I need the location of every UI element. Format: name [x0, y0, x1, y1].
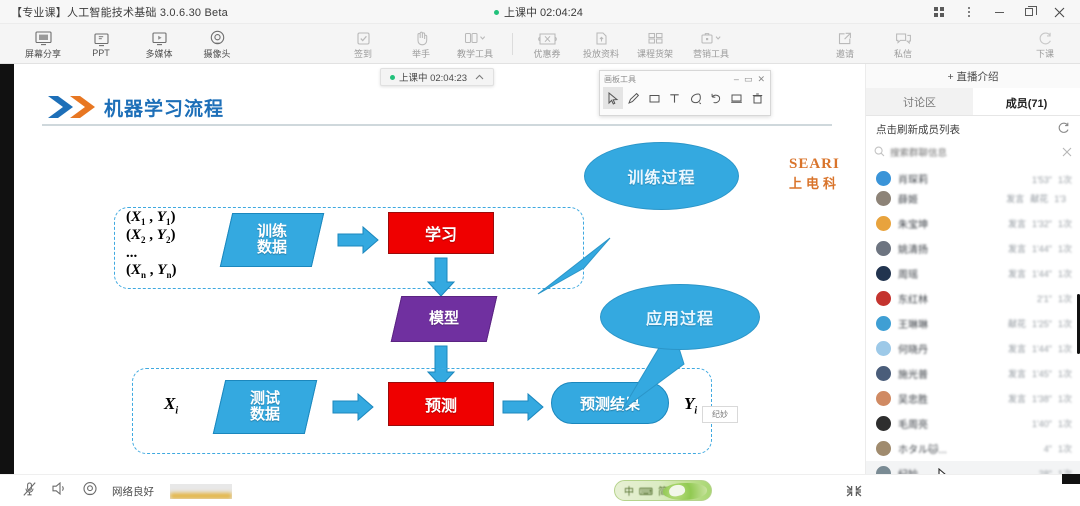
slide-canvas: 机器学习流程 SEARI 上电科 (X1 , Y1) (X2 , Y2) ...…: [14, 72, 865, 460]
member-name: 施光普: [898, 366, 928, 381]
panel-tabs: 讨论区 成员(71): [866, 88, 1080, 116]
live-intro-button[interactable]: + 直播介绍: [866, 64, 1080, 88]
node-label-line2: 数据: [257, 239, 287, 256]
avatar: [876, 241, 891, 256]
arrow-right-icon: [331, 392, 375, 427]
annotation-name-tag: 纪妙: [702, 406, 738, 423]
member-duration: 1'25": [1032, 319, 1052, 329]
tool-multimedia[interactable]: 多媒体: [130, 26, 188, 62]
title-underline: [42, 124, 832, 126]
node-label: 预测: [425, 392, 457, 416]
select-cursor-icon[interactable]: [603, 87, 623, 109]
tool-screen-share[interactable]: 屏幕分享: [14, 26, 72, 62]
node-label: 学习: [425, 221, 457, 245]
training-samples-list: (X1 , Y1) (X2 , Y2) ... (Xn , Yn): [126, 209, 176, 280]
tool-label: 签到: [354, 47, 372, 60]
tool-label: 教学工具: [457, 47, 493, 60]
sample-row: ...: [126, 245, 176, 262]
right-panel: + 直播介绍 讨论区 成员(71) 点击刷新成员列表 肖琛莉1'53"1次薛姬发…: [865, 64, 1080, 506]
tool-label: 课程货架: [637, 47, 673, 60]
avatar: [876, 291, 891, 306]
member-count: 1次: [1058, 342, 1072, 355]
tool-label: 私信: [894, 47, 912, 60]
drawing-maximize-button[interactable]: ▭: [744, 75, 753, 84]
member-meta: 2'1"1次: [1037, 292, 1072, 305]
member-row[interactable]: 施光普发言1'45"1次: [866, 361, 1080, 386]
avatar: [876, 416, 891, 431]
floating-live-pill[interactable]: 上课中 02:04:23: [380, 68, 494, 86]
bubble-label: 应用过程: [646, 305, 714, 329]
member-count: 1次: [1058, 317, 1072, 330]
stage-left-letterbox: [0, 64, 14, 474]
slide-title: 机器学习流程: [104, 94, 224, 121]
mic-muted-icon[interactable]: [22, 481, 37, 502]
avatar: [876, 171, 891, 186]
member-meta: 献花1'25"1次: [1008, 317, 1072, 330]
member-action-tag[interactable]: 献花: [1030, 192, 1048, 205]
media-play-icon: [151, 29, 168, 46]
private-message-icon: [895, 29, 912, 46]
rectangle-icon[interactable]: [644, 87, 664, 109]
member-duration: 1'45": [1032, 369, 1052, 379]
member-count: 1次: [1058, 392, 1072, 405]
member-search-row[interactable]: [874, 142, 1072, 164]
tool-course-shelf[interactable]: 课程货架: [624, 26, 686, 62]
member-meta: 发言1'38"1次: [1008, 392, 1072, 405]
member-name: 吴忠胜: [898, 391, 928, 406]
member-list[interactable]: 肖琛莉1'53"1次薛姬发言献花1'3朱宝坤发言1'32"1次姚清扬发言1'44…: [866, 170, 1080, 476]
drawing-toolbar-window[interactable]: 画板工具 – ▭ ✕: [599, 70, 771, 116]
member-row[interactable]: 姚清扬发言1'44"1次: [866, 236, 1080, 261]
member-row[interactable]: 周瑶发言1'44"1次: [866, 261, 1080, 286]
trash-icon[interactable]: [747, 87, 767, 109]
input-label: Xi: [164, 394, 178, 416]
eraser-icon[interactable]: [686, 87, 706, 109]
tool-label: 举手: [412, 47, 430, 60]
restore-button[interactable]: [1014, 0, 1044, 24]
tool-coupon[interactable]: 优惠券: [518, 26, 576, 62]
avatar: [876, 341, 891, 356]
member-duration: 1'3: [1054, 194, 1066, 204]
avatar: [876, 316, 891, 331]
member-meta: 发言1'44"1次: [1008, 242, 1072, 255]
node-test-data: 测试 数据: [213, 380, 317, 434]
member-meta: 1'40"1次: [1032, 417, 1072, 430]
member-duration: 1'44": [1032, 244, 1052, 254]
arrow-right-icon: [336, 225, 380, 260]
member-row[interactable]: 吴忠胜发言1'38"1次: [866, 386, 1080, 411]
live-class-window: 【专业课】人工智能技术基础 3.0.6.30 Beta 上课中 02:04:24: [0, 0, 1080, 506]
member-duration: 1'32": [1032, 219, 1052, 229]
avatar: [876, 216, 891, 231]
monitor-share-icon: [35, 29, 52, 46]
tab-discussion[interactable]: 讨论区: [866, 88, 973, 115]
chevron-decoration-icon: [46, 94, 104, 125]
drawing-toolbar-title: 画板工具: [604, 74, 636, 85]
window-controls: [924, 0, 1074, 24]
toolbar-divider: [512, 33, 513, 55]
tool-label: 邀请: [836, 47, 854, 60]
member-count: 1次: [1058, 217, 1072, 230]
text-icon[interactable]: [665, 87, 685, 109]
checkin-icon: [356, 29, 371, 46]
bubble-tail-icon: [534, 232, 614, 307]
node-model: 模型: [391, 296, 498, 342]
apps-grid-icon[interactable]: [924, 0, 954, 24]
refresh-members-row[interactable]: 点击刷新成员列表: [866, 116, 1080, 142]
tool-label: 摄像头: [203, 47, 230, 60]
member-name: 周瑶: [898, 266, 918, 281]
member-action-tag[interactable]: 发言: [1006, 192, 1024, 205]
tool-camera[interactable]: 摄像头: [188, 26, 246, 62]
status-bar-thumbnail: [170, 484, 232, 499]
node-label-line1: 测试: [250, 390, 280, 407]
node-label: 模型: [429, 311, 459, 327]
member-meta: 1'53"1次: [1032, 173, 1072, 186]
member-name: 东红林: [898, 291, 928, 306]
member-action-tag[interactable]: 发言: [1008, 217, 1026, 230]
member-action-tag[interactable]: 发言: [1008, 242, 1026, 255]
camera-circle-icon[interactable]: [82, 481, 98, 502]
node-training-data: 训练 数据: [220, 213, 324, 267]
ime-indicator[interactable]: 中 ⌨ 简: [614, 480, 712, 501]
member-action-tag[interactable]: 发言: [1008, 367, 1026, 380]
collapse-fullscreen-icon[interactable]: [845, 484, 863, 498]
member-row[interactable]: ホタル🐱...4"1次: [866, 436, 1080, 461]
member-duration: 1'44": [1032, 344, 1052, 354]
live-status-text: 上课中 02:04:24: [504, 4, 583, 20]
close-icon[interactable]: [1062, 144, 1072, 162]
member-count: 1次: [1058, 417, 1072, 430]
drawing-toolbar-header: 画板工具 – ▭ ✕: [600, 71, 770, 87]
minimize-button[interactable]: [984, 0, 1014, 24]
seari-logo: SEARI 上电科: [789, 156, 865, 192]
member-meta: 发言1'32"1次: [1008, 217, 1072, 230]
upload-doc-icon: [594, 29, 609, 46]
member-name: 王琳琳: [898, 316, 928, 331]
more-vertical-icon[interactable]: [954, 0, 984, 24]
member-duration: 1'44": [1032, 269, 1052, 279]
member-action-tag[interactable]: 献花: [1008, 317, 1026, 330]
tool-upload-doc[interactable]: 投放资料: [570, 26, 632, 62]
member-row[interactable]: 东红林2'1"1次: [866, 286, 1080, 311]
marketing-tools-icon: [699, 29, 723, 46]
drawing-tools-row: [600, 87, 770, 109]
coupon-icon: [538, 29, 557, 46]
bubble-application-process: 应用过程: [600, 284, 760, 350]
member-row[interactable]: 毛周亮1'40"1次: [866, 411, 1080, 436]
member-name: 朱宝坤: [898, 216, 928, 231]
node-label-line1: 训练: [257, 223, 287, 240]
whiteboard-icon[interactable]: [727, 87, 747, 109]
member-count: 1次: [1058, 173, 1072, 186]
tool-private-message[interactable]: 私信: [874, 26, 932, 62]
sample-row: (Xn , Yn): [126, 262, 176, 280]
search-icon: [874, 144, 885, 162]
close-button[interactable]: [1044, 0, 1074, 24]
member-count: 1次: [1058, 367, 1072, 380]
member-row[interactable]: 肖琛莉1'53"1次: [866, 170, 1080, 186]
tool-label: 投放资料: [583, 47, 619, 60]
node-label-line2: 数据: [250, 406, 280, 423]
member-count: 1次: [1058, 267, 1072, 280]
search-input[interactable]: [890, 148, 1057, 159]
avatar: [876, 266, 891, 281]
teaching-tools-icon: [463, 29, 487, 46]
member-meta: 发言1'44"1次: [1008, 342, 1072, 355]
avatar: [876, 366, 891, 381]
camera-icon: [209, 29, 226, 46]
refresh-label: 点击刷新成员列表: [876, 122, 960, 137]
bubble-label: 训练过程: [627, 164, 695, 188]
tool-label: 多媒体: [145, 47, 172, 60]
chevron-up-icon[interactable]: [475, 72, 484, 83]
member-duration: 1'53": [1032, 175, 1052, 185]
end-class-icon: [1038, 29, 1053, 46]
action-toolbar: 屏幕分享 PPT 多媒体: [0, 24, 1080, 64]
tool-teaching-tools[interactable]: 教学工具: [442, 26, 508, 62]
member-meta: 发言1'44"1次: [1008, 267, 1072, 280]
avatar: [876, 391, 891, 406]
bubble-training-process: 训练过程: [584, 142, 739, 210]
drawing-close-button[interactable]: ✕: [757, 75, 765, 84]
member-name: 毛周亮: [898, 416, 928, 431]
member-meta: 发言1'45"1次: [1008, 367, 1072, 380]
member-meta: 4"1次: [1044, 442, 1072, 455]
sample-row: (X2 , Y2): [126, 227, 176, 245]
arrow-right-icon: [501, 392, 545, 427]
course-shelf-icon: [647, 29, 664, 46]
member-action-tag[interactable]: 发言: [1008, 342, 1026, 355]
status-bar: 网络良好: [0, 474, 1080, 506]
tab-members[interactable]: 成员(71): [973, 88, 1080, 115]
status-bar-right-letterbox: [1062, 474, 1080, 484]
member-name: ホタル🐱...: [898, 441, 947, 456]
title-bar: 【专业课】人工智能技术基础 3.0.6.30 Beta 上课中 02:04:24: [0, 0, 1080, 24]
node-learn: 学习: [388, 212, 494, 254]
status-bar-left: 网络良好: [22, 475, 232, 506]
invite-share-icon: [837, 29, 853, 46]
live-dot-icon: [494, 10, 499, 15]
network-status-label: 网络良好: [112, 484, 154, 499]
tool-label: 下课: [1036, 47, 1054, 60]
member-count: 1次: [1058, 242, 1072, 255]
avatar: [876, 441, 891, 456]
member-duration: 1'40": [1032, 419, 1052, 429]
member-row[interactable]: 薛姬发言献花1'3: [866, 186, 1080, 211]
member-count: 1次: [1058, 292, 1072, 305]
member-meta: 发言献花1'3: [1006, 192, 1072, 205]
tool-label: 优惠券: [533, 47, 560, 60]
sample-row: (X1 , Y1): [126, 209, 176, 227]
slide-stage[interactable]: 机器学习流程 SEARI 上电科 (X1 , Y1) (X2 , Y2) ...…: [14, 64, 865, 474]
logo-line-1: SEARI: [789, 156, 865, 173]
member-duration: 2'1": [1037, 294, 1052, 304]
member-name: 薛姬: [898, 191, 918, 206]
tool-marketing-tools[interactable]: 营销工具: [678, 26, 744, 62]
node-predict: 预测: [388, 382, 494, 426]
member-duration: 4": [1044, 444, 1052, 454]
member-name: 何晓丹: [898, 341, 928, 356]
member-duration: 1'38": [1032, 394, 1052, 404]
tool-label: 屏幕分享: [25, 47, 61, 60]
pencil-icon[interactable]: [624, 87, 644, 109]
live-dot-icon: [390, 75, 395, 80]
tool-label: 营销工具: [693, 47, 729, 60]
tool-end-class[interactable]: 下课: [1016, 26, 1074, 62]
member-action-tag[interactable]: 发言: [1008, 392, 1026, 405]
member-name: 肖琛莉: [898, 171, 928, 186]
avatar: [876, 191, 891, 206]
member-row[interactable]: 王琳琳献花1'25"1次: [866, 311, 1080, 336]
member-row[interactable]: 朱宝坤发言1'32"1次: [866, 211, 1080, 236]
raise-hand-icon: [414, 29, 429, 46]
refresh-icon[interactable]: [1057, 121, 1070, 137]
ppt-icon: [93, 30, 110, 47]
member-count: 1次: [1058, 442, 1072, 455]
undo-icon[interactable]: [706, 87, 726, 109]
tool-ppt[interactable]: PPT: [72, 26, 130, 62]
drawing-minimize-button[interactable]: –: [734, 75, 739, 84]
tool-label: PPT: [92, 48, 110, 58]
logo-line-2: 上电科: [789, 173, 865, 192]
tool-checkin[interactable]: 签到: [334, 26, 392, 62]
window-title: 【专业课】人工智能技术基础 3.0.6.30 Beta: [11, 4, 228, 20]
member-name: 姚清扬: [898, 241, 928, 256]
tool-invite[interactable]: 邀请: [816, 26, 874, 62]
member-action-tag[interactable]: 发言: [1008, 267, 1026, 280]
member-row[interactable]: 何晓丹发言1'44"1次: [866, 336, 1080, 361]
floating-live-text: 上课中 02:04:23: [399, 70, 467, 84]
speaker-icon[interactable]: [51, 481, 68, 501]
live-status: 上课中 02:04:24: [494, 0, 583, 24]
